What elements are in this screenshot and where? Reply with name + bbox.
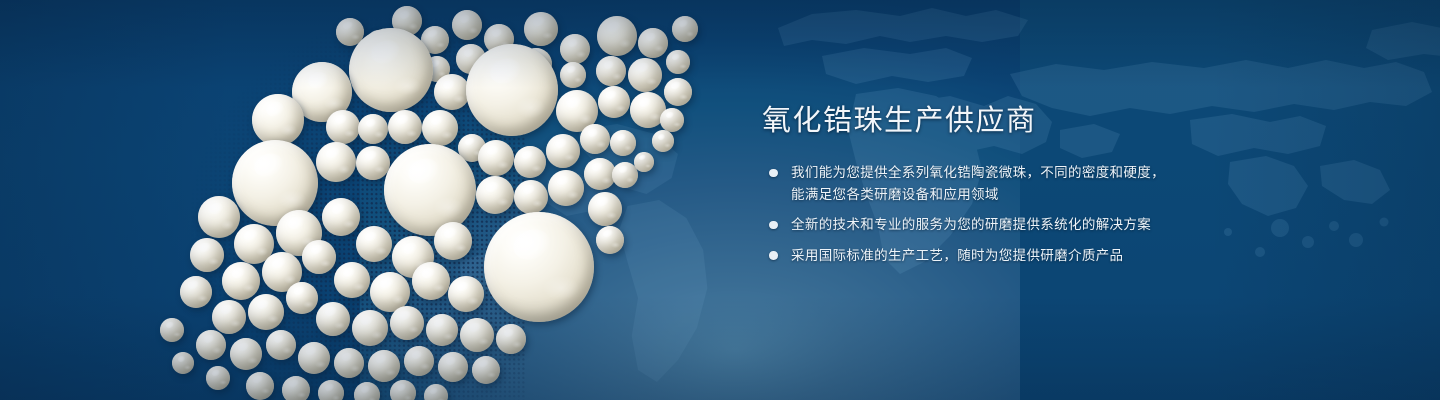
bullet-dot-icon <box>769 251 778 260</box>
banner-copy: 氧化锆珠生产供应商 我们能为您提供全系列氧化锆陶瓷微珠，不同的密度和硬度， 能满… <box>762 104 1322 266</box>
list-item-line: 采用国际标准的生产工艺，随时为您提供研磨介质产品 <box>791 245 1322 267</box>
bullet-dot-icon <box>769 169 778 178</box>
bullet-dot-icon <box>769 221 778 230</box>
list-item: 我们能为您提供全系列氧化锆陶瓷微珠，不同的密度和硬度， 能满足您各类研磨设备和应… <box>762 162 1322 205</box>
list-item: 全新的技术和专业的服务为您的研磨提供系统化的解决方案 <box>762 214 1322 236</box>
hero-banner: 氧化锆珠生产供应商 我们能为您提供全系列氧化锆陶瓷微珠，不同的密度和硬度， 能满… <box>0 0 1440 400</box>
list-item-line: 我们能为您提供全系列氧化锆陶瓷微珠，不同的密度和硬度， <box>791 162 1322 184</box>
list-item-line: 全新的技术和专业的服务为您的研磨提供系统化的解决方案 <box>791 214 1322 236</box>
page-title: 氧化锆珠生产供应商 <box>762 104 1322 138</box>
list-item: 采用国际标准的生产工艺，随时为您提供研磨介质产品 <box>762 245 1322 267</box>
feature-list: 我们能为您提供全系列氧化锆陶瓷微珠，不同的密度和硬度， 能满足您各类研磨设备和应… <box>762 162 1322 266</box>
list-item-line: 能满足您各类研磨设备和应用领域 <box>791 184 1322 206</box>
